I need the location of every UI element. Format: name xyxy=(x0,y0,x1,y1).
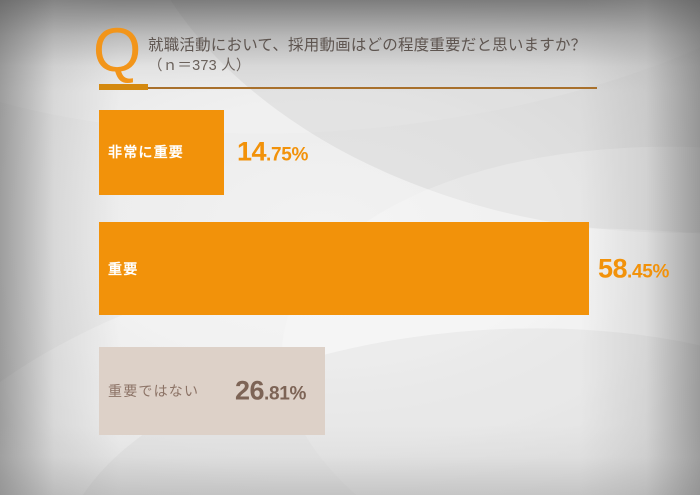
bar-value-integer: 26 xyxy=(235,376,264,406)
chart-bar-row: 重要 58.45% xyxy=(99,222,589,315)
bar-category-label: 重要ではない xyxy=(108,381,199,401)
bar-value-label: 14.75% xyxy=(237,137,308,168)
bar-value-integer: 58 xyxy=(598,254,627,284)
bar-value-decimal: .81% xyxy=(264,384,306,405)
slide-canvas: Q 就職活動において、採用動画はどの程度重要だと思いますか？ （ｎ＝373 人）… xyxy=(0,0,700,495)
bar-value-decimal: .75% xyxy=(266,145,308,166)
bar-category-label: 重要 xyxy=(108,259,138,279)
chart-bar-row: 重要ではない 26.81% xyxy=(99,347,325,435)
bar-value-label: 26.81% xyxy=(235,376,306,407)
bar-value-integer: 14 xyxy=(237,137,266,167)
bar-value-decimal: .45% xyxy=(627,262,669,283)
chart-bar-row: 非常に重要 14.75% xyxy=(99,110,224,195)
bar-chart: 非常に重要 14.75% 重要 58.45% 重要ではない 26.81% xyxy=(0,0,700,495)
bar-value-label: 58.45% xyxy=(598,254,669,285)
chart-bar-fill xyxy=(99,222,589,315)
bar-category-label: 非常に重要 xyxy=(108,142,184,162)
